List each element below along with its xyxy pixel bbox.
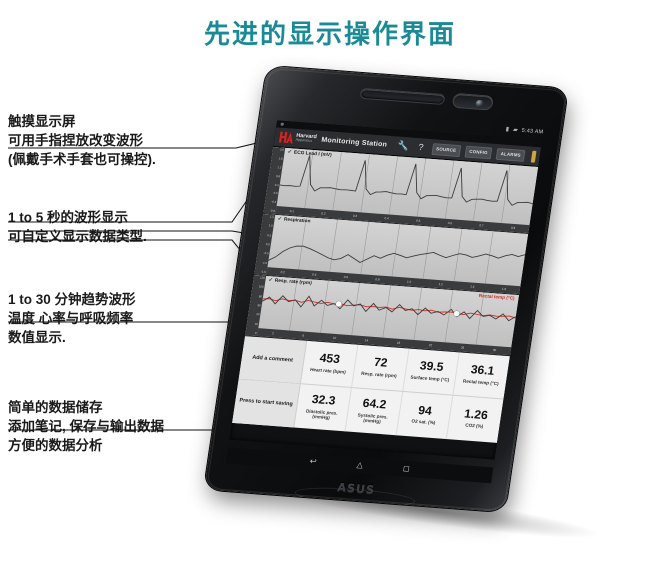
wrench-icon[interactable]: 🔧 [396, 141, 410, 151]
metric-label: Diastolic pres. (mmHg) [297, 407, 347, 422]
metric-resp-rate[interactable]: 72 Resp. rate (rpm) [352, 345, 409, 391]
metric-rectal-temp[interactable]: 36.1 Rectal temp (°C) [454, 352, 510, 398]
y-tick: 0.5 [267, 234, 271, 237]
metric-o2-sat[interactable]: 94 O2 sat. (%) [396, 392, 453, 439]
tablet-device: ▮ ▰ 5:43 AM [236, 74, 636, 524]
y-tick: 20 [255, 323, 259, 326]
metric-label: Rectal temp (°C) [463, 378, 500, 386]
metric-label: Heart rate (bpm) [310, 367, 346, 375]
x-tick: 0.4 [384, 216, 389, 220]
x-tick: 0.8 [375, 277, 380, 281]
charts-area[interactable]: ✓ ECG Lead I (mV) 2.0 1.6 1.2 0.8 0.4 0.… [245, 147, 538, 356]
x-tick: 10 [332, 336, 336, 340]
metric-value: 36.1 [470, 364, 495, 378]
sim-icon: ▮ [505, 127, 509, 133]
checkbox-checked-icon[interactable]: ✓ [277, 216, 282, 222]
x-tick: 2 [272, 331, 274, 335]
y-tick: 0.8 [276, 175, 280, 178]
page-root: 先进的显示操作界面 触摸显示屏 可用手指捏放改变波形 (佩戴手术手套也可操控).… [0, 0, 660, 569]
y-tick: 60 [257, 304, 261, 307]
x-tick: 0.6 [344, 275, 349, 279]
status-clock: 5:43 AM [521, 128, 544, 136]
start-saving-button[interactable]: Press to start saving [232, 379, 301, 427]
config-button[interactable]: CONFIG [464, 145, 492, 159]
y-tick: -1.5 [261, 271, 266, 274]
tablet-body: ▮ ▰ 5:43 AM [204, 66, 568, 512]
x-tick: 26 [461, 346, 465, 350]
ha-monogram-icon [278, 131, 295, 145]
metric-diastolic-pressure[interactable]: 32.3 Diastolic pres. (mmHg) [294, 384, 351, 431]
x-tick: 18 [397, 341, 401, 345]
y-tick: 40 [256, 314, 260, 317]
metric-value: 94 [417, 404, 432, 417]
y-tick: 0.0 [266, 243, 270, 246]
x-tick: 1.0 [407, 280, 412, 284]
x-tick: 0.6 [447, 221, 452, 225]
metric-systolic-pressure[interactable]: 64.2 Systolic pres. (mmHg) [345, 388, 402, 435]
help-icon[interactable]: ? [414, 143, 428, 153]
front-camera-icon [452, 93, 494, 111]
source-button[interactable]: SOURCE [431, 143, 461, 157]
metric-surface-temp[interactable]: 39.5 Surface temp (°C) [403, 349, 460, 395]
y-tick: -0.4 [271, 201, 276, 204]
metric-value: 453 [319, 352, 341, 366]
recents-icon[interactable]: ◻ [402, 465, 410, 473]
y-tick: 80 [259, 295, 263, 298]
y-tick: 1.0 [268, 225, 272, 228]
x-tick: 0.2 [321, 211, 326, 215]
camera-lens-icon [475, 99, 484, 107]
logo-line-2: Apparatus [295, 139, 316, 144]
x-tick: 0.2 [280, 270, 285, 274]
back-icon[interactable]: ↩ [309, 458, 317, 466]
metric-heart-rate[interactable]: 453 Heart rate (bpm) [301, 341, 358, 387]
x-tick: 0.3 [353, 214, 358, 218]
app-logo-text: Harvard Apparatus [295, 134, 317, 144]
battery-icon: ▰ [513, 127, 519, 133]
add-comment-button[interactable]: Add a comment [239, 336, 308, 383]
metric-value: 64.2 [362, 397, 387, 411]
y-tick: -0.5 [263, 252, 268, 255]
x-tick: 6 [302, 334, 304, 338]
notification-dot-icon [280, 123, 283, 126]
x-tick: 1.2 [438, 282, 443, 286]
y-tick: 120 [260, 276, 265, 279]
x-tick: 0.5 [416, 219, 421, 223]
y-tick: 1.6 [278, 157, 282, 160]
metric-label: O2 sat. (%) [411, 419, 436, 426]
metric-co2[interactable]: 1.26 CO2 (%) [447, 396, 503, 443]
y-tick: 2.0 [280, 148, 284, 151]
y-tick: -1.0 [262, 262, 267, 265]
tablet-screen[interactable]: Harvard Apparatus Monitoring Station 🔧 ?… [230, 120, 543, 459]
app-title: Monitoring Station [321, 137, 388, 149]
metric-label: Resp. rate (rpm) [361, 371, 397, 379]
x-tick: 0.4 [312, 272, 317, 276]
y-tick: 0.0 [273, 192, 277, 195]
metric-label: CO2 (%) [465, 423, 484, 430]
metric-value: 72 [373, 356, 388, 369]
y-tick: 0.4 [275, 183, 279, 186]
metric-value: 32.3 [311, 393, 336, 407]
x-tick: 30 [493, 348, 497, 352]
home-icon[interactable]: △ [356, 461, 363, 469]
checkbox-checked-icon[interactable]: ✓ [287, 149, 292, 155]
metric-label: Systolic pres. (mmHg) [348, 411, 398, 426]
y-tick: 1.2 [277, 166, 281, 169]
app-logo: Harvard Apparatus [278, 131, 317, 147]
x-tick: 0.7 [479, 223, 484, 227]
speaker-grill-icon [360, 88, 446, 105]
x-tick: 1.6 [502, 287, 507, 291]
x-tick: 0.8 [511, 226, 516, 230]
alarms-button[interactable]: ALARMS [496, 147, 526, 161]
x-tick: 22 [429, 343, 433, 347]
y-tick: 100 [259, 286, 264, 289]
x-tick: 1.4 [470, 284, 475, 288]
menu-bar-icon[interactable] [531, 150, 537, 162]
metric-value: 39.5 [419, 360, 444, 374]
checkbox-checked-icon[interactable]: ✓ [268, 277, 273, 283]
x-tick: 0.1 [289, 209, 294, 213]
y-tick: 1.5 [270, 215, 274, 218]
x-tick: 14 [365, 338, 369, 342]
metric-label: Surface temp (°C) [410, 374, 450, 383]
metric-value: 1.26 [463, 407, 488, 421]
y-tick: -0.8 [270, 210, 275, 213]
